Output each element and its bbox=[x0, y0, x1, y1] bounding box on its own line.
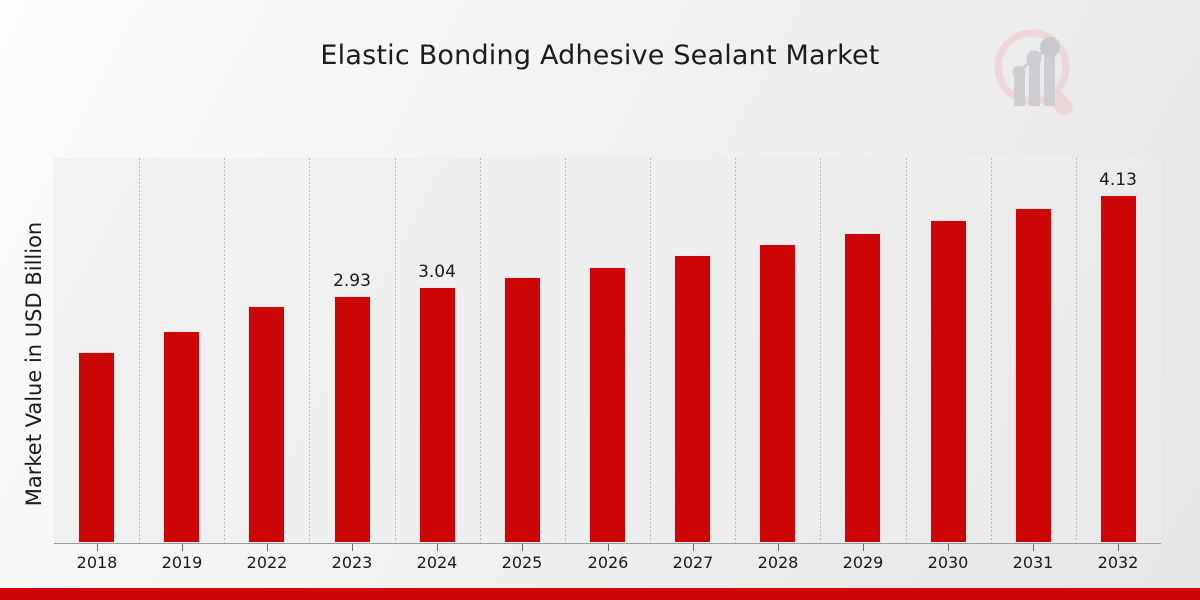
tick-mark-2028 bbox=[778, 544, 779, 551]
gridline bbox=[224, 158, 225, 543]
bar-2025[interactable] bbox=[504, 277, 541, 543]
bar-2022[interactable] bbox=[248, 306, 285, 543]
tick-mark-2022 bbox=[267, 544, 268, 551]
bar-2031[interactable] bbox=[1015, 208, 1052, 543]
bar-value-label-2023: 2.93 bbox=[317, 271, 387, 291]
gridline bbox=[139, 158, 140, 543]
bar-2032[interactable] bbox=[1100, 195, 1137, 543]
tick-mark-2027 bbox=[693, 544, 694, 551]
bar-2024[interactable] bbox=[419, 287, 456, 543]
tick-mark-2032 bbox=[1118, 544, 1119, 551]
x-tick-label-2027: 2027 bbox=[653, 553, 733, 572]
x-tick-label-2030: 2030 bbox=[908, 553, 988, 572]
tick-mark-2029 bbox=[863, 544, 864, 551]
gridline bbox=[906, 158, 907, 543]
x-tick-label-2023: 2023 bbox=[312, 553, 392, 572]
tick-mark-2030 bbox=[948, 544, 949, 551]
x-tick-label-2022: 2022 bbox=[227, 553, 307, 572]
x-tick-label-2026: 2026 bbox=[568, 553, 648, 572]
bar-2028[interactable] bbox=[759, 244, 796, 543]
footer-band bbox=[0, 588, 1200, 600]
x-tick-label-2018: 2018 bbox=[57, 553, 137, 572]
x-tick-label-2029: 2029 bbox=[823, 553, 903, 572]
gridline bbox=[650, 158, 651, 543]
tick-mark-2018 bbox=[97, 544, 98, 551]
bar-2026[interactable] bbox=[589, 267, 626, 543]
bar-2019[interactable] bbox=[163, 331, 200, 543]
x-tick-label-2031: 2031 bbox=[993, 553, 1073, 572]
x-tick-label-2024: 2024 bbox=[397, 553, 477, 572]
gridline bbox=[1076, 158, 1077, 543]
gridline bbox=[309, 158, 310, 543]
bar-value-label-2024: 3.04 bbox=[402, 262, 472, 282]
y-axis-title: Market Value in USD Billion bbox=[22, 134, 46, 594]
gridline bbox=[735, 158, 736, 543]
bar-2027[interactable] bbox=[674, 255, 711, 543]
chart-page: Elastic Bonding Adhesive Sealant Market … bbox=[0, 0, 1200, 600]
x-tick-label-2032: 2032 bbox=[1078, 553, 1158, 572]
gridline bbox=[820, 158, 821, 543]
x-tick-label-2028: 2028 bbox=[738, 553, 818, 572]
gridline bbox=[991, 158, 992, 543]
bar-2023[interactable] bbox=[334, 296, 371, 543]
gridline bbox=[480, 158, 481, 543]
bar-2029[interactable] bbox=[844, 233, 881, 543]
tick-mark-2019 bbox=[182, 544, 183, 551]
x-tick-label-2019: 2019 bbox=[142, 553, 222, 572]
tick-mark-2024 bbox=[437, 544, 438, 551]
tick-mark-2031 bbox=[1033, 544, 1034, 551]
page-title: Elastic Bonding Adhesive Sealant Market bbox=[0, 40, 1200, 71]
gridline bbox=[565, 158, 566, 543]
bar-2018[interactable] bbox=[78, 352, 115, 543]
x-tick-label-2025: 2025 bbox=[482, 553, 562, 572]
gridline bbox=[395, 158, 396, 543]
magnifier-bar-chart-logo bbox=[984, 22, 1092, 124]
bar-2030[interactable] bbox=[930, 220, 967, 543]
tick-mark-2023 bbox=[352, 544, 353, 551]
tick-mark-2025 bbox=[522, 544, 523, 551]
tick-mark-2026 bbox=[608, 544, 609, 551]
bar-value-label-2032: 4.13 bbox=[1083, 170, 1153, 190]
